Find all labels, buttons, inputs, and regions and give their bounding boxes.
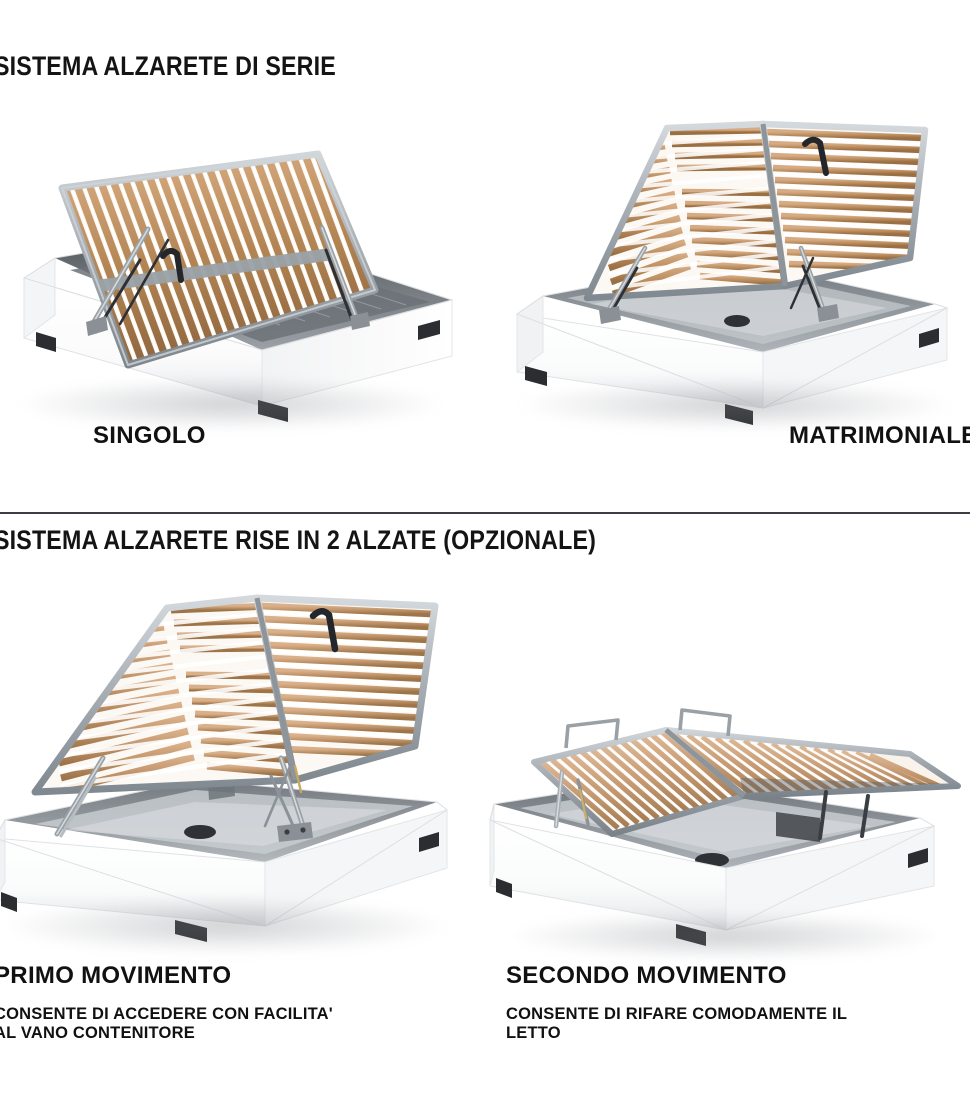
bed-foot (725, 404, 753, 425)
description-line: AL VANO CONTENITORE (0, 1024, 333, 1043)
section-divider (0, 512, 970, 514)
cavity-hardware (184, 825, 216, 839)
caption-matrimoniale: MATRIMONIALE (789, 422, 970, 450)
description-line: CONSENTE DI ACCEDERE CON FACILITA' (0, 1005, 333, 1024)
bed-foot (175, 920, 207, 942)
bed-foot (676, 924, 706, 946)
description-line: LETTO (506, 1024, 847, 1043)
caption-secondo-movimento: SECONDO MOVIMENTO (506, 962, 787, 990)
bed-illustration-primo-movimento (0, 580, 470, 970)
bed-illustration-secondo-movimento (490, 700, 970, 962)
bed-illustration-matrimoniale (495, 108, 970, 428)
caption-primo-movimento: PRIMO MOVIMENTO (0, 962, 231, 990)
product-sheet-page: SISTEMA ALZARETE DI SERIE (0, 0, 970, 1109)
section-title-serie: SISTEMA ALZARETE DI SERIE (0, 51, 336, 82)
slat-frame-panel-right (763, 124, 925, 286)
description-primo-movimento: CONSENTE DI ACCEDERE CON FACILITA' AL VA… (0, 1005, 333, 1043)
cavity-hardware (724, 315, 750, 327)
section-title-rise: SISTEMA ALZARETE RISE IN 2 ALZATE (OPZIO… (0, 525, 596, 556)
description-secondo-movimento: CONSENTE DI RIFARE COMODAMENTE IL LETTO (506, 1005, 847, 1043)
bed-illustration-singolo (0, 110, 470, 430)
caption-singolo: SINGOLO (93, 422, 206, 450)
slat-frame-panel-left (35, 598, 295, 792)
description-line: CONSENTE DI RIFARE COMODAMENTE IL (506, 1005, 847, 1024)
